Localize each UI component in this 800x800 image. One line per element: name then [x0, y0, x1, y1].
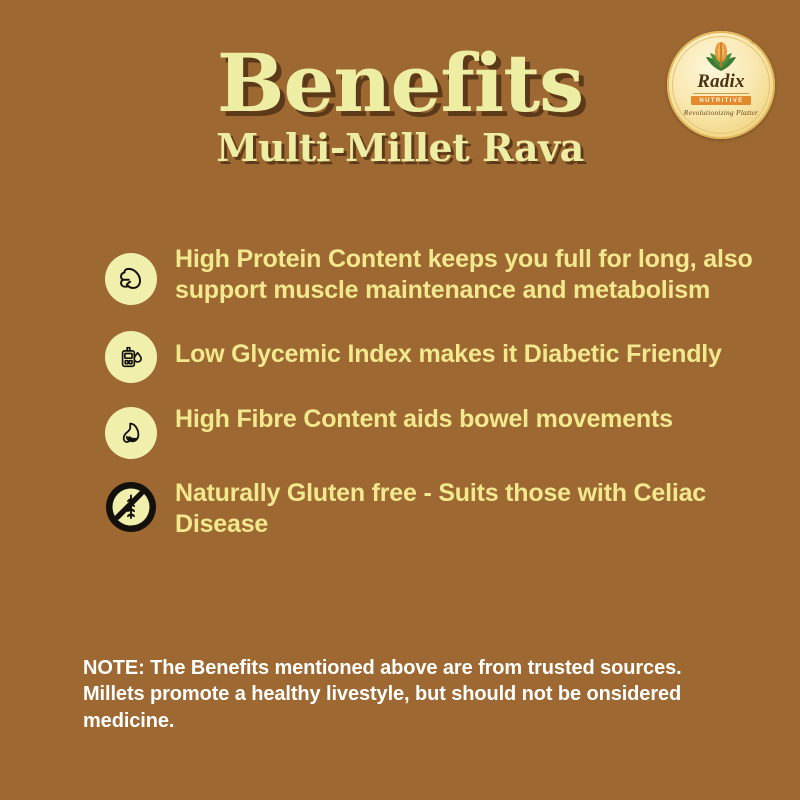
stomach-icon: [105, 407, 157, 459]
disclaimer-note: NOTE: The Benefits mentioned above are f…: [83, 655, 733, 734]
page-title: Benefits: [0, 44, 800, 122]
benefit-text: High Protein Content keeps you full for …: [175, 243, 765, 305]
flexed-bicep-icon: [105, 253, 157, 305]
gluten-free-icon: [105, 481, 157, 533]
page-subtitle: Multi-Millet Rava: [0, 128, 800, 168]
list-item: High Fibre Content aids bowel movements: [105, 403, 765, 459]
benefit-text: High Fibre Content aids bowel movements: [175, 403, 765, 435]
benefit-text: Naturally Gluten free - Suits those with…: [175, 477, 765, 539]
glucometer-icon: [105, 331, 157, 383]
list-item: High Protein Content keeps you full for …: [105, 243, 765, 305]
list-item: Low Glycemic Index makes it Diabetic Fri…: [105, 329, 765, 383]
benefits-list: High Protein Content keeps you full for …: [105, 243, 765, 539]
list-item: Naturally Gluten free - Suits those with…: [105, 477, 765, 539]
benefit-text: Low Glycemic Index makes it Diabetic Fri…: [175, 329, 765, 370]
title-block: Benefits Multi-Millet Rava: [0, 44, 800, 168]
benefits-poster: ® Radix NUTRITIVE Revolutionizing Platte…: [0, 0, 800, 800]
